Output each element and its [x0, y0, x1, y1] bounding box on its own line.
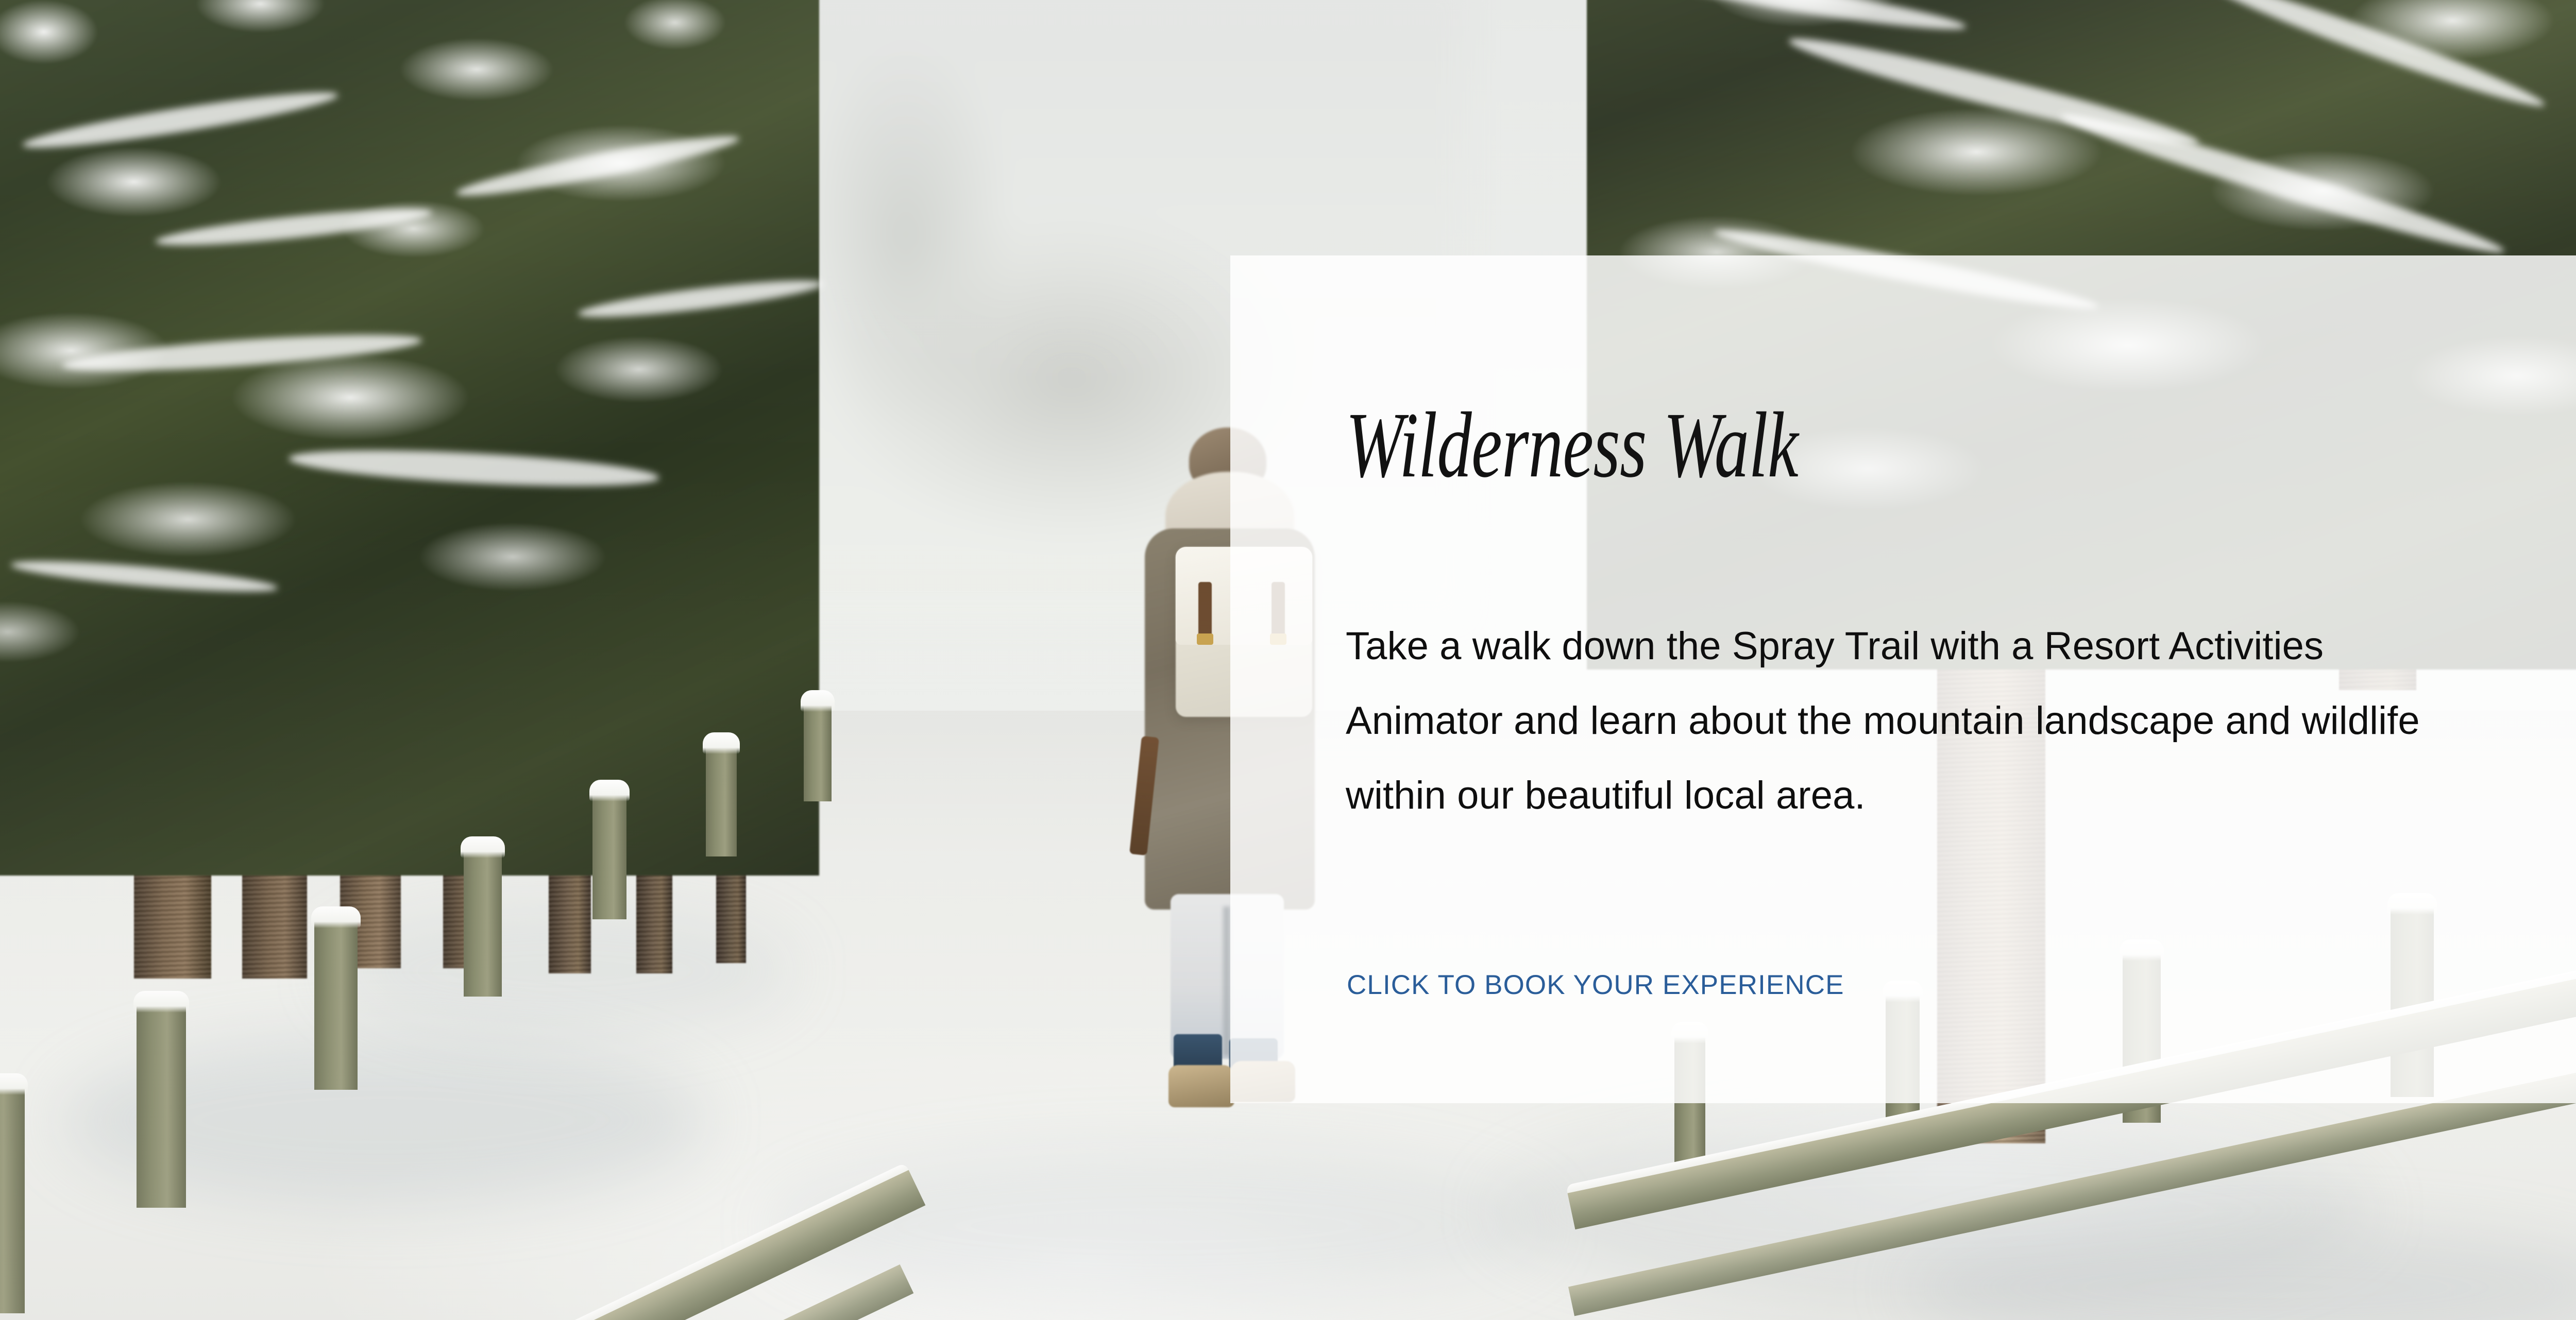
fence-post	[706, 746, 737, 856]
description-text: Take a walk down the Spray Trail with a …	[1346, 609, 2469, 833]
person-boot	[1168, 1065, 1234, 1107]
fence-post	[314, 920, 358, 1090]
fence-post	[592, 793, 626, 919]
fence-post	[137, 1004, 186, 1208]
book-experience-link[interactable]: CLICK TO BOOK YOUR EXPERIENCE	[1347, 969, 1844, 1001]
fence-post	[0, 1087, 25, 1313]
backpack-buckle	[1197, 633, 1213, 645]
person-leg-gap	[1223, 906, 1230, 1056]
fence-post	[804, 704, 832, 801]
fence-post	[464, 850, 502, 997]
overlay-text-panel: Wilderness Walk Take a walk down the Spr…	[1230, 255, 2576, 1103]
page-title: Wilderness Walk	[1346, 399, 1798, 492]
hero-banner: Wilderness Walk Take a walk down the Spr…	[0, 0, 2576, 1320]
